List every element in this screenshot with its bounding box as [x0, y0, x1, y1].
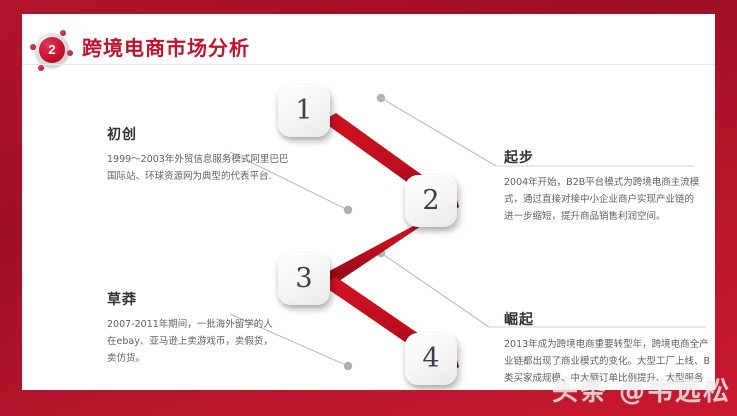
block-body-juequi: 2013年成为跨境电商重要转型年，跨境电商全产业链都出现了商业模式的变化。大型工… [504, 336, 712, 390]
step-tile-4[interactable]: 4 [405, 333, 457, 385]
slide-canvas: 2 跨境电商市场分析 [22, 14, 715, 390]
text-block-qibu: 起步 2004年开始，B2B平台模式为跨境电商主流模式，通过直接对接中小企业商户… [504, 147, 700, 225]
block-heading-caomang: 草莽 [107, 289, 279, 309]
text-block-caomang: 草莽 2007-2011年期间，一批海外留学的人在ebay、亚马逊上卖游戏币，卖… [107, 289, 279, 367]
step-tile-2[interactable]: 2 [405, 175, 457, 227]
block-heading-juequi: 崛起 [504, 309, 712, 329]
slide-frame: 2 跨境电商市场分析 [0, 0, 737, 416]
block-heading-chuchuang: 初创 [107, 124, 289, 144]
step-tile-4-number: 4 [405, 333, 457, 385]
step-tile-2-number: 2 [405, 175, 457, 227]
text-block-juequi: 崛起 2013年成为跨境电商重要转型年，跨境电商全产业链都出现了商业模式的变化。… [504, 309, 712, 390]
block-body-chuchuang: 1999～2003年外贸信息服务模式阿里巴巴国际站、环球资源网为典型的代表平台. [107, 151, 289, 185]
step-tile-3-number: 3 [278, 253, 330, 305]
block-body-qibu: 2004年开始，B2B平台模式为跨境电商主流模式，通过直接对接中小企业商户实现产… [504, 174, 700, 225]
block-heading-qibu: 起步 [504, 147, 700, 167]
text-block-chuchuang: 初创 1999～2003年外贸信息服务模式阿里巴巴国际站、环球资源网为典型的代表… [107, 124, 289, 185]
block-body-caomang: 2007-2011年期间，一批海外留学的人在ebay、亚马逊上卖游戏币，卖假货，… [107, 316, 279, 367]
step-tile-3[interactable]: 3 [278, 253, 330, 305]
